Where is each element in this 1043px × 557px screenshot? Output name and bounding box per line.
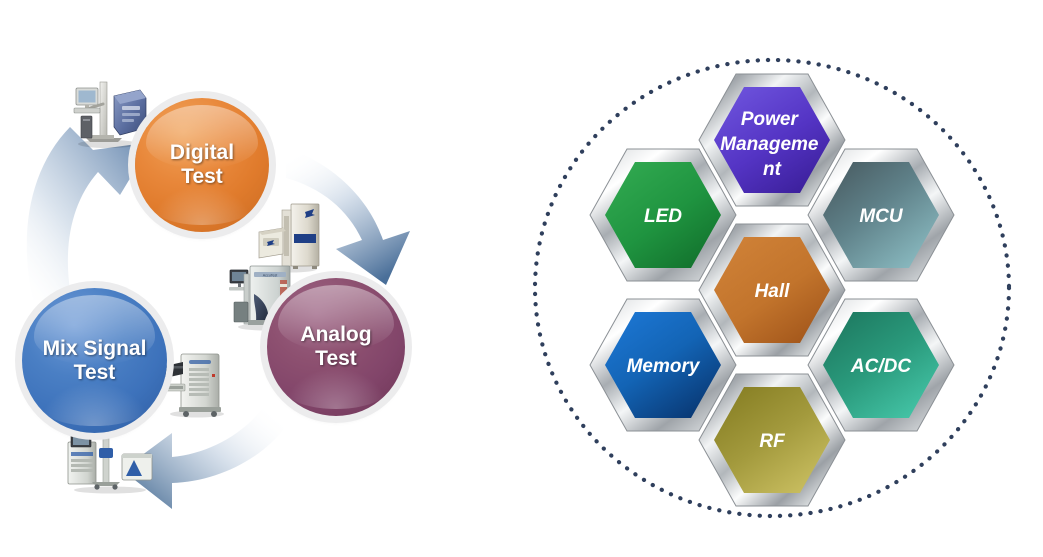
cycle-node-mix-signal-test[interactable]: Mix Signal Test bbox=[22, 288, 167, 433]
hexagon-hall-label: Hall bbox=[755, 281, 791, 302]
label-line-1: MCU bbox=[859, 206, 904, 227]
cycle-node-layer: Digital Test Analog Test Mix Signal Test bbox=[0, 0, 500, 557]
gloss-lower bbox=[39, 382, 149, 426]
gloss-lower bbox=[151, 185, 253, 225]
label-line-1: Memory bbox=[627, 356, 701, 377]
label-line-2: Test bbox=[181, 165, 223, 188]
label-line-1: Hall bbox=[755, 281, 791, 302]
diagram-canvas: AccuTest bbox=[0, 0, 1043, 557]
gloss-lower bbox=[284, 368, 389, 409]
hexagon-rf[interactable]: RF bbox=[699, 374, 845, 506]
label-line-1: Digital bbox=[170, 141, 234, 164]
hexagon-hall[interactable]: Hall bbox=[699, 224, 845, 356]
hexagon-rf-label: RF bbox=[759, 431, 786, 452]
label-line-1: RF bbox=[759, 431, 786, 452]
cycle-node-analog-test-label: Analog Test bbox=[300, 323, 371, 370]
hexagon-acdc-label: AC/DC bbox=[850, 356, 911, 377]
test-cycle-diagram: AccuTest bbox=[0, 0, 500, 557]
product-honeycomb-diagram: Power Manageme nt LED MCU bbox=[500, 0, 1043, 557]
label-line-2: Test bbox=[74, 361, 116, 384]
cycle-node-analog-test[interactable]: Analog Test bbox=[267, 278, 405, 416]
cycle-node-digital-test[interactable]: Digital Test bbox=[135, 98, 269, 232]
hexagon-memory[interactable]: Memory bbox=[590, 299, 736, 431]
label-line-1: Mix Signal bbox=[43, 337, 147, 360]
hexagon-power-management[interactable]: Power Manageme nt bbox=[699, 74, 845, 206]
label-line-1: LED bbox=[644, 206, 682, 227]
honeycomb-svg: Power Manageme nt LED MCU bbox=[500, 0, 1043, 557]
hexagon-mcu-label: MCU bbox=[859, 206, 904, 227]
hexagon-acdc[interactable]: AC/DC bbox=[808, 299, 954, 431]
label-line-1: Power bbox=[741, 109, 800, 130]
label-line-1: Analog bbox=[300, 323, 371, 346]
hexagon-memory-label: Memory bbox=[627, 356, 701, 377]
cycle-node-digital-test-label: Digital Test bbox=[170, 141, 234, 188]
label-line-3: nt bbox=[763, 159, 782, 180]
label-line-2: Test bbox=[315, 347, 357, 370]
cycle-node-mix-signal-test-label: Mix Signal Test bbox=[43, 337, 147, 384]
hexagon-led[interactable]: LED bbox=[590, 149, 736, 281]
label-line-1: AC/DC bbox=[850, 356, 911, 377]
label-line-2: Manageme bbox=[720, 134, 819, 155]
hexagon-mcu[interactable]: MCU bbox=[808, 149, 954, 281]
hexagon-led-label: LED bbox=[644, 206, 682, 227]
